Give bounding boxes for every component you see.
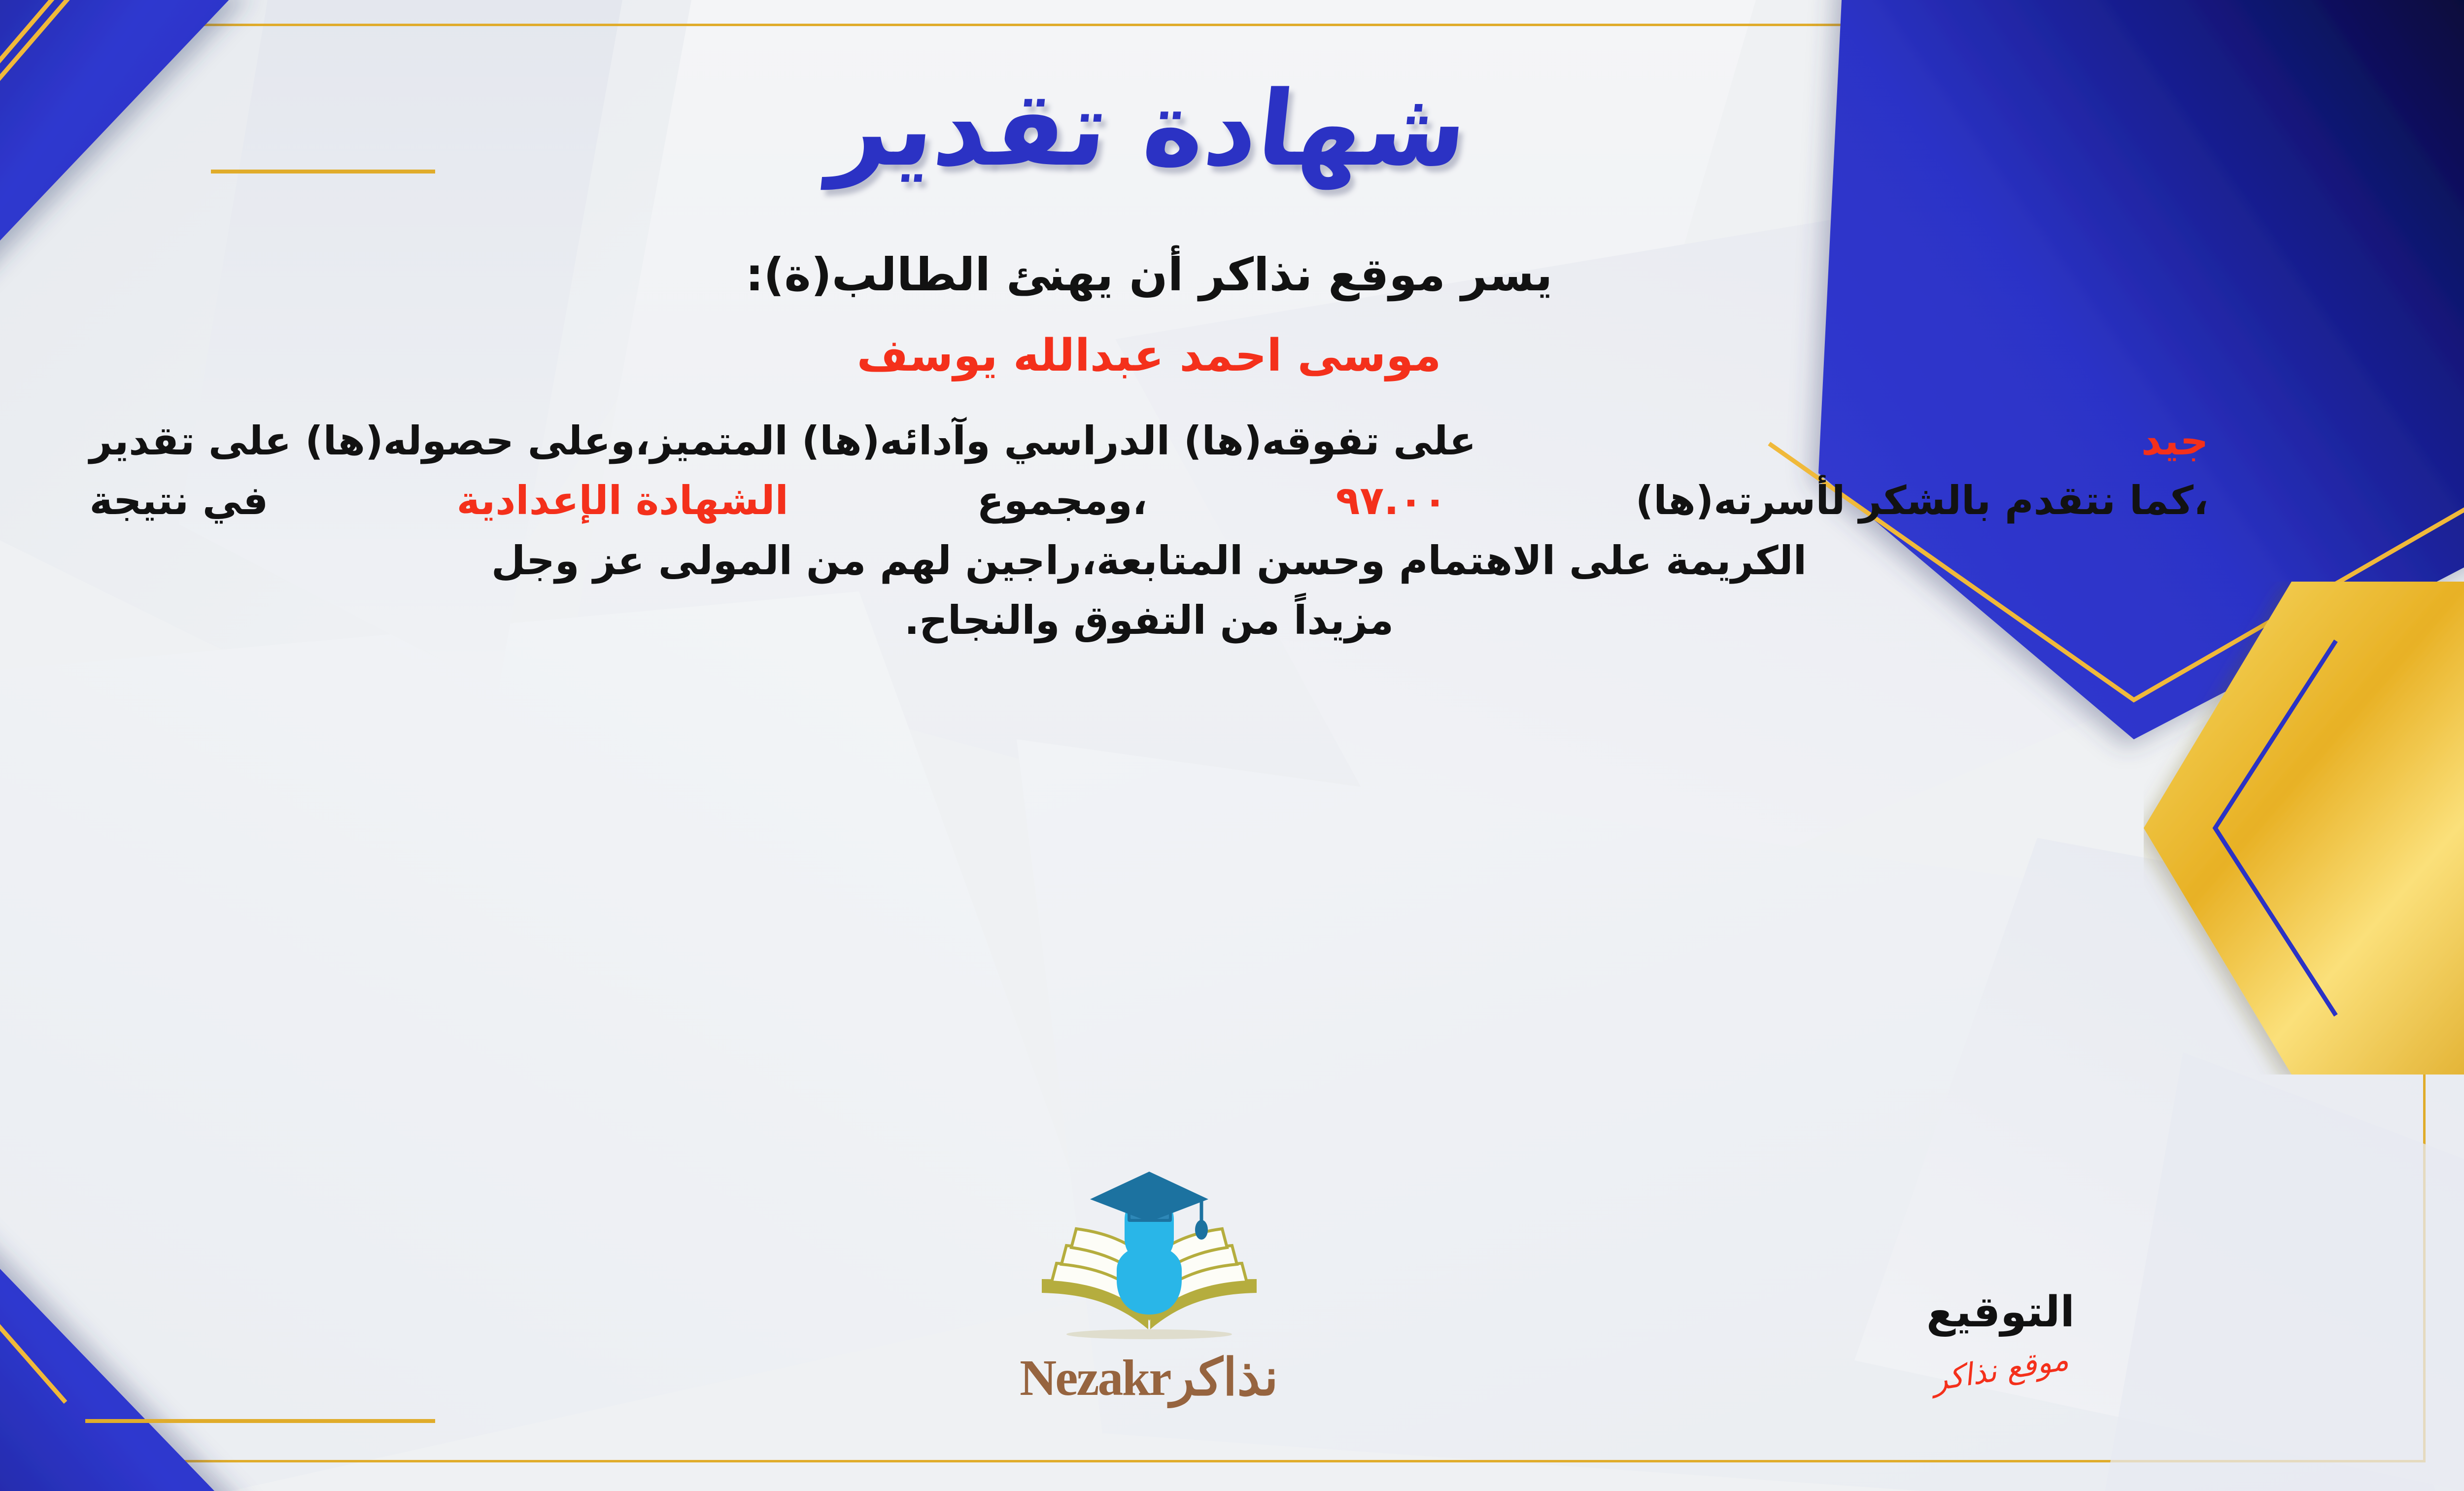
body-line-2-middle: ،ومجموع [977, 471, 1147, 531]
page-title: شهادة تقدير [824, 59, 1474, 199]
body-line-1: جيد على تفوقه(ها) الدراسي وآدائه(ها) الم… [90, 411, 2209, 471]
total-score-value: ٩٧.٠٠ [1336, 471, 1447, 531]
certificate-type-value: الشهادة الإعدادية [457, 471, 788, 531]
certificate-content: شهادة تقدير يسر موقع نذاكر أن يهنئ الطال… [0, 0, 2464, 1491]
salutation-text: يسر موقع نذاكر أن يهنئ الطالب(ة): [746, 248, 1553, 301]
body-line-2-start: في نتيجة [90, 471, 269, 531]
student-name: موسى احمد عبدالله يوسف [857, 330, 1441, 381]
body-line-2: ،كما نتقدم بالشكر لأسرته(ها) ٩٧.٠٠ ،ومجم… [90, 471, 2209, 531]
grade-value: جيد [2141, 411, 2209, 471]
certificate-canvas: شهادة تقدير يسر موقع نذاكر أن يهنئ الطال… [0, 0, 2464, 1491]
body-line-1-text: على تفوقه(ها) الدراسي وآدائه(ها) المتميز… [90, 411, 1476, 471]
body-line-2-end: ،كما نتقدم بالشكر لأسرته(ها) [1636, 471, 2209, 531]
certificate-body: جيد على تفوقه(ها) الدراسي وآدائه(ها) الم… [90, 411, 2209, 651]
body-line-3: الكريمة على الاهتمام وحسن المتابعة،راجين… [90, 531, 2209, 591]
body-line-4: مزيداً من التفوق والنجاح. [90, 590, 2209, 651]
